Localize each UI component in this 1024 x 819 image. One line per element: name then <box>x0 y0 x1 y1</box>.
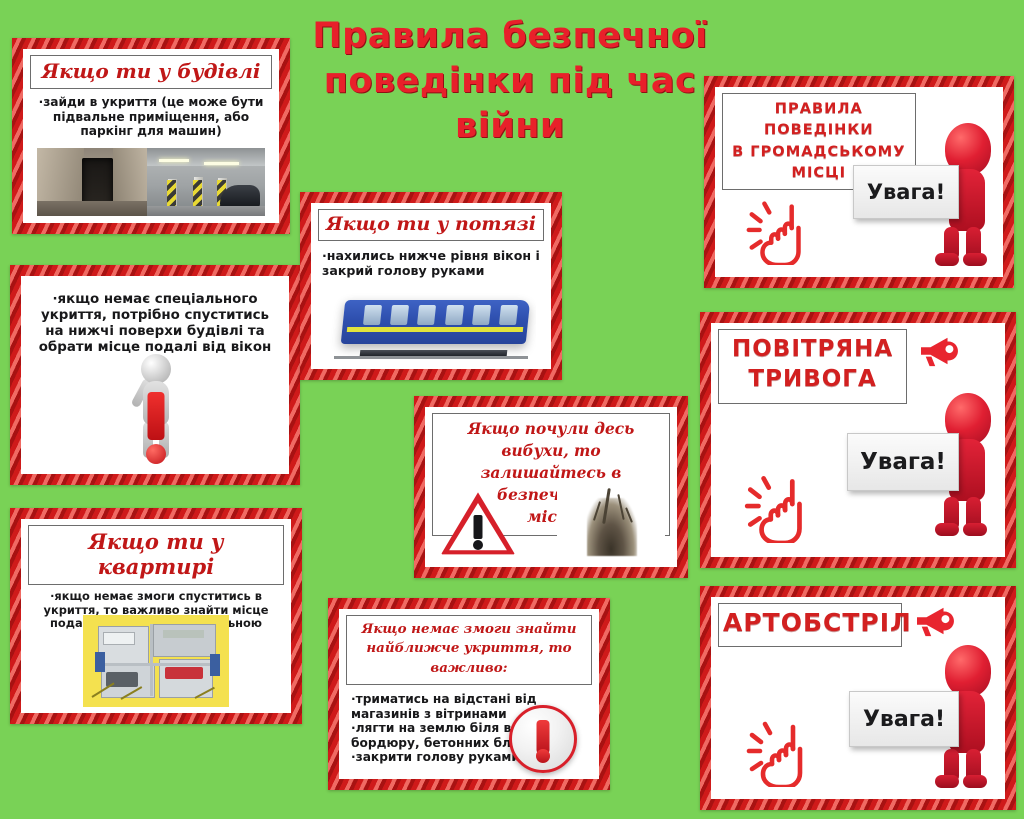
megaphone-icon <box>913 603 957 639</box>
card-no-shelter-title-line-1: Якщо немає змоги знайти <box>351 620 587 639</box>
card-lower-floors[interactable]: ·якщо немає спеціального укриття, потріб… <box>10 265 300 485</box>
card-building-title-box: Якщо ти у будівлі <box>30 55 272 89</box>
attention-sign-air-alert: Увага! <box>847 433 959 491</box>
card-train[interactable]: Якщо ти у потязі ·нахились нижче рівня в… <box>300 192 562 380</box>
card-lower-floors-body: ·якщо немає спеціального укриття, потріб… <box>28 292 282 356</box>
card-train-title-box: Якщо ти у потязі <box>318 209 544 241</box>
basement-shelter-photo <box>37 148 155 216</box>
card-shelling-title-box: АРТОБСТРІЛ <box>718 603 902 647</box>
card-apartment-title-box: Якщо ти у квартирі <box>28 525 284 585</box>
card-air-alert-title-line-1: ПОВІТРЯНА <box>723 335 902 365</box>
poster-title-line-2: поведінки під час <box>300 59 720 104</box>
poster-canvas: Правила безпечної поведінки під час війн… <box>0 0 1024 819</box>
card-explosions[interactable]: Якщо почули десь вибухи, то залишайтесь … <box>414 396 688 578</box>
card-no-shelter[interactable]: Якщо немає змоги знайти найближче укритт… <box>328 598 610 790</box>
blue-passenger-train-photo <box>326 286 536 364</box>
grey-figure-with-exclamation <box>125 354 187 466</box>
card-air-alert-title-box: ПОВІТРЯНА ТРИВОГА <box>718 329 907 404</box>
pointing-hand-icon <box>741 191 819 265</box>
card-apartment-title: Якщо ти у квартирі <box>88 529 223 579</box>
card-shelling-title: АРТОБСТРІЛ <box>723 608 897 639</box>
card-no-shelter-title-line-2: найближче укриття, то важливо: <box>351 639 587 678</box>
card-apartment[interactable]: Якщо ти у квартирі ·якщо немає змоги спу… <box>10 508 302 724</box>
card-public-place-title-line-1: ПРАВИЛА ПОВЕДІНКИ <box>727 98 911 141</box>
card-air-alert-title-line-2: ТРИВОГА <box>723 365 902 395</box>
card-shelling[interactable]: АРТОБСТРІЛ <box>700 586 1016 810</box>
exclamation-badge-icon <box>509 705 577 773</box>
underground-parking-photo <box>147 148 265 216</box>
card-train-body: ·нахились нижче рівня вікон і закрий гол… <box>318 248 544 278</box>
card-building[interactable]: Якщо ти у будівлі ·зайди в укриття (це м… <box>12 38 290 234</box>
poster-title: Правила безпечної поведінки під час війн… <box>300 14 720 148</box>
pointing-hand-icon <box>739 465 821 543</box>
attention-sign-text: Увага! <box>863 707 945 732</box>
attention-sign-public-place: Увага! <box>853 165 959 219</box>
card-building-body: ·зайди в укриття (це може бути підвальне… <box>30 95 272 139</box>
attention-sign-shelling: Увага! <box>849 691 959 747</box>
apartment-floorplan-diagram <box>83 615 229 707</box>
megaphone-icon <box>917 333 961 369</box>
poster-title-line-3: війни <box>300 104 720 149</box>
card-no-shelter-title-box: Якщо немає змоги знайти найближче укритт… <box>346 615 592 685</box>
pointing-hand-icon <box>741 711 821 787</box>
card-public-place-title-line-2: В ГРОМАДСЬКОМУ <box>727 141 911 162</box>
card-public-place[interactable]: ПРАВИЛА ПОВЕДІНКИ В ГРОМАДСЬКОМУ МІСЦІ <box>704 76 1014 288</box>
explosion-plume-photo <box>557 485 665 559</box>
warning-triangle-icon <box>441 491 515 557</box>
poster-title-line-1: Правила безпечної <box>300 14 720 59</box>
attention-sign-text: Увага! <box>860 449 946 475</box>
attention-sign-text: Увага! <box>867 180 945 204</box>
card-train-title: Якщо ти у потязі <box>326 213 536 235</box>
card-air-alert[interactable]: ПОВІТРЯНА ТРИВОГА <box>700 312 1016 568</box>
card-explosions-title-line-1: Якщо почули десь вибухи, то <box>437 419 665 463</box>
card-building-title: Якщо ти у будівлі <box>41 59 260 83</box>
